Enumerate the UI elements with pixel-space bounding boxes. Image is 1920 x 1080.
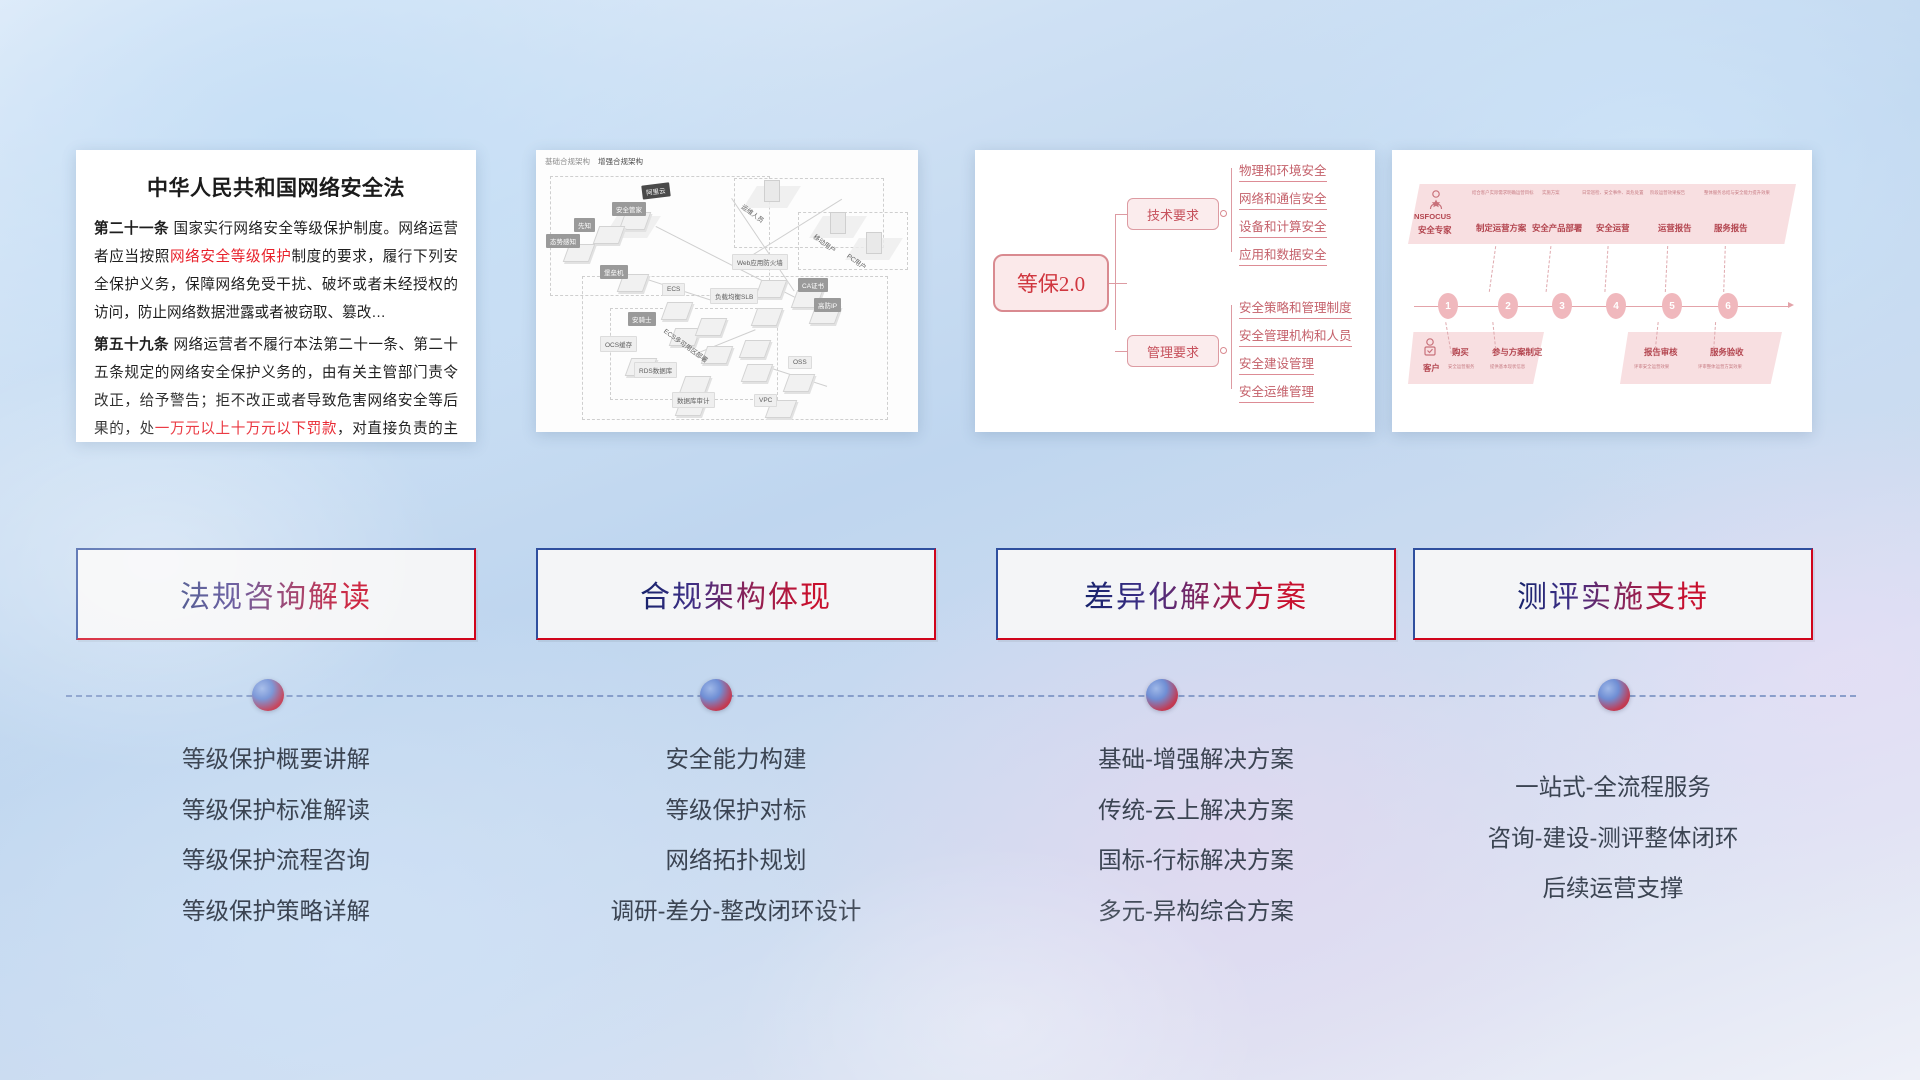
timeline-step-3: 3 (1552, 293, 1572, 319)
list-item: 国标-行标解决方案 (996, 849, 1396, 873)
top-step-title-2: 安全产品部署 (1532, 222, 1582, 234)
mindmap-connector (1109, 283, 1127, 284)
category-header-label: 法规咨询解读 (180, 572, 372, 616)
leader-line (1546, 246, 1552, 292)
card-nsfocus-timeline: NSFOCUS 安全专家 客户 结合客户实际需求明确运营目标 制定运营方案 实施… (1392, 150, 1812, 432)
top-step-sub-4: 阶段运营效果报告 (1650, 190, 1685, 196)
article-21-highlight: 网络安全等级保护 (170, 249, 292, 265)
mindmap-leaf-network-comm: 网络和通信安全 (1239, 188, 1327, 210)
top-step-sub-5: 整体服务总结与安全能力提升效果 (1704, 190, 1770, 196)
customer-label: 客户 (1423, 362, 1440, 374)
tab-enhanced-architecture: 增强合规架构 (598, 156, 643, 167)
expert-label-line1: NSFOCUS (1414, 212, 1451, 221)
list-item: 多元-异构综合方案 (996, 900, 1396, 924)
detail-list-assessment-support: 一站式-全流程服务 咨询-建设-测评整体闭环 后续运营支撑 (1413, 776, 1813, 928)
timeline-marker-4[interactable] (1598, 679, 1630, 711)
category-header-label: 合规架构体现 (640, 572, 832, 616)
mindmap-spine (1231, 168, 1232, 252)
timeline-step-6: 6 (1718, 293, 1738, 319)
bottom-step-title-4: 服务验收 (1710, 346, 1744, 358)
timeline-marker-1[interactable] (252, 679, 284, 711)
list-item: 网络拓扑规划 (536, 849, 936, 873)
mindmap-leaf-app-data: 应用和数据安全 (1239, 244, 1327, 266)
top-step-title-3: 安全运营 (1596, 222, 1630, 234)
mindmap: 等保2.0 技术要求 管理要求 物理和环境安全 网络和通信安全 设备和计算安全 … (975, 150, 1375, 432)
list-item: 等级保护标准解读 (76, 799, 476, 823)
timeline-marker-3[interactable] (1146, 679, 1178, 711)
leader-line (1489, 246, 1496, 292)
list-item: 等级保护对标 (536, 799, 936, 823)
mindmap-root: 等保2.0 (993, 254, 1109, 312)
bottom-step-sub-3: 评审安全运营效果 (1634, 364, 1669, 370)
list-item: 咨询-建设-测评整体闭环 (1413, 827, 1813, 851)
expert-label-line2: 安全专家 (1418, 224, 1452, 236)
timeline-dashed-line (66, 695, 1856, 697)
timeline-step-5: 5 (1662, 293, 1682, 319)
bottom-step-sub-4: 评审整体运营方案效果 (1698, 364, 1742, 370)
customer-band-right (1620, 332, 1782, 384)
top-step-sub-3: 日常巡检、安全事件、高危处置 (1582, 190, 1643, 196)
mindmap-leaf-construction-mgmt: 安全建设管理 (1239, 353, 1314, 375)
article-59-highlight-a: 一万元以上十万元以下罚款 (155, 421, 337, 437)
expert-person-icon (1428, 190, 1444, 210)
mindmap-leaf-org-personnel: 安全管理机构和人员 (1239, 325, 1352, 347)
mindmap-leaf-physical-env: 物理和环境安全 (1239, 160, 1327, 182)
list-item: 等级保护流程咨询 (76, 849, 476, 873)
law-article-59: 第五十九条 网络运营者不履行本法第二十一条、第二十五条规定的网络安全保护义务的，… (94, 331, 458, 442)
leader-line (1723, 246, 1726, 292)
node-label-rds: RDS数据库 (634, 362, 677, 378)
category-headers-row: 法规咨询解读 合规架构体现 差异化解决方案 测评实施支持 (0, 548, 1920, 644)
top-step-sub-1: 结合客户实际需求明确运营目标 (1472, 190, 1533, 196)
node-label-situation-awareness: 态势感知 (546, 234, 580, 248)
top-step-sub-2: 实施方案 (1542, 190, 1560, 196)
timeline-step-2: 2 (1498, 293, 1518, 319)
list-item: 传统-云上解决方案 (996, 799, 1396, 823)
timeline-marker-2[interactable] (700, 679, 732, 711)
node-label-waf: Web应用防火墙 (732, 254, 788, 270)
architecture-diagram: 基础合规架构 增强合规架构 (536, 150, 918, 432)
node-label-ca-cert: CA证书 (798, 278, 828, 292)
mindmap-connector (1115, 214, 1127, 215)
category-header-assessment-support[interactable]: 测评实施支持 (1413, 548, 1813, 640)
mindmap-branch-management: 管理要求 (1127, 335, 1219, 367)
node-label-security-butler: 安全管家 (612, 202, 646, 216)
node-label-anqishi: 安骑士 (628, 312, 656, 326)
mindmap-spine (1115, 214, 1116, 330)
list-item: 等级保护策略详解 (76, 900, 476, 924)
detail-list-differentiated-solution: 基础-增强解决方案 传统-云上解决方案 国标-行标解决方案 多元-异构综合方案 (996, 748, 1396, 950)
bottom-step-sub-2: 提供基本现状信息 (1490, 364, 1525, 370)
list-item: 后续运营支撑 (1413, 877, 1813, 901)
node-label-anti-ddos-ip: 高防IP (814, 298, 841, 312)
node-label-db-audit: 数据库审计 (672, 392, 715, 408)
service-timeline: NSFOCUS 安全专家 客户 结合客户实际需求明确运营目标 制定运营方案 实施… (1392, 150, 1812, 432)
timeline-arrow-icon (1788, 302, 1794, 308)
server-icon (764, 180, 780, 202)
architecture-tabs: 基础合规架构 增强合规架构 (545, 156, 643, 167)
slide-canvas: 中华人民共和国网络安全法 第二十一条 国家实行网络安全等级保护制度。网络运营者应… (0, 0, 1920, 1080)
category-header-regulation-consulting[interactable]: 法规咨询解读 (76, 548, 476, 640)
node-label-ocs-cache: OCS缓存 (600, 336, 637, 352)
article-59-label: 第五十九条 (94, 337, 169, 353)
list-item: 安全能力构建 (536, 748, 936, 772)
law-title: 中华人民共和国网络安全法 (94, 172, 458, 202)
article-21-label: 第二十一条 (94, 221, 169, 237)
top-step-title-4: 运营报告 (1658, 222, 1692, 234)
bottom-step-title-1: 购买 (1452, 346, 1469, 358)
node-label-slb: 负载均衡SLB (710, 288, 758, 304)
mindmap-spine (1231, 305, 1232, 389)
timeline-step-4: 4 (1606, 293, 1626, 319)
law-article-21: 第二十一条 国家实行网络安全等级保护制度。网络运营者应当按照网络安全等级保护制度… (94, 215, 458, 327)
detail-list-regulation-consulting: 等级保护概要讲解 等级保护标准解读 等级保护流程咨询 等级保护策略详解 (76, 748, 476, 950)
list-item: 调研-差分-整改闭环设计 (536, 900, 936, 924)
bottom-step-sub-1: 安全运营服务 (1448, 364, 1474, 370)
timeline-step-1: 1 (1438, 293, 1458, 319)
mindmap-leaf-device-compute: 设备和计算安全 (1239, 216, 1327, 238)
mindmap-collapse-dot[interactable] (1220, 210, 1227, 217)
card-cybersecurity-law: 中华人民共和国网络安全法 第二十一条 国家实行网络安全等级保护制度。网络运营者应… (76, 150, 476, 442)
list-item: 一站式-全流程服务 (1413, 776, 1813, 800)
node-label-bastion-host: 堡垒机 (600, 265, 628, 279)
category-header-label: 差异化解决方案 (1084, 572, 1308, 616)
node-label-vpc: VPC (754, 394, 777, 407)
category-header-compliance-architecture[interactable]: 合规架构体现 (536, 548, 936, 640)
mindmap-leaf-policy-system: 安全策略和管理制度 (1239, 297, 1352, 319)
top-step-title-1: 制定运营方案 (1476, 222, 1526, 234)
mindmap-leaf-ops-mgmt: 安全运维管理 (1239, 381, 1314, 403)
detail-list-compliance-architecture: 安全能力构建 等级保护对标 网络拓扑规划 调研-差分-整改闭环设计 (536, 748, 936, 950)
tab-basic-architecture: 基础合规架构 (545, 156, 590, 167)
node-label-ecs: ECS (662, 283, 685, 296)
reference-cards-row: 中华人民共和国网络安全法 第二十一条 国家实行网络安全等级保护制度。网络运营者应… (0, 150, 1920, 450)
top-step-title-5: 服务报告 (1714, 222, 1748, 234)
card-mindmap-dengbao: 等保2.0 技术要求 管理要求 物理和环境安全 网络和通信安全 设备和计算安全 … (975, 150, 1375, 432)
customer-person-icon (1422, 338, 1438, 360)
server-icon (866, 232, 882, 254)
bottom-step-title-2: 参与方案制定 (1492, 346, 1542, 358)
card-cloud-architecture: 基础合规架构 增强合规架构 (536, 150, 918, 432)
server-icon (830, 212, 846, 234)
list-item: 基础-增强解决方案 (996, 748, 1396, 772)
category-header-differentiated-solution[interactable]: 差异化解决方案 (996, 548, 1396, 640)
category-header-label: 测评实施支持 (1517, 572, 1709, 616)
mindmap-branch-technical: 技术要求 (1127, 198, 1219, 230)
bottom-step-title-3: 报告审核 (1644, 346, 1678, 358)
leader-line (1665, 246, 1668, 292)
node-label-oss: OSS (788, 356, 812, 369)
list-item: 等级保护概要讲解 (76, 748, 476, 772)
node-label-xianzhi: 先知 (574, 218, 595, 232)
mindmap-collapse-dot[interactable] (1220, 347, 1227, 354)
mindmap-connector (1115, 351, 1127, 352)
leader-line (1604, 246, 1608, 292)
